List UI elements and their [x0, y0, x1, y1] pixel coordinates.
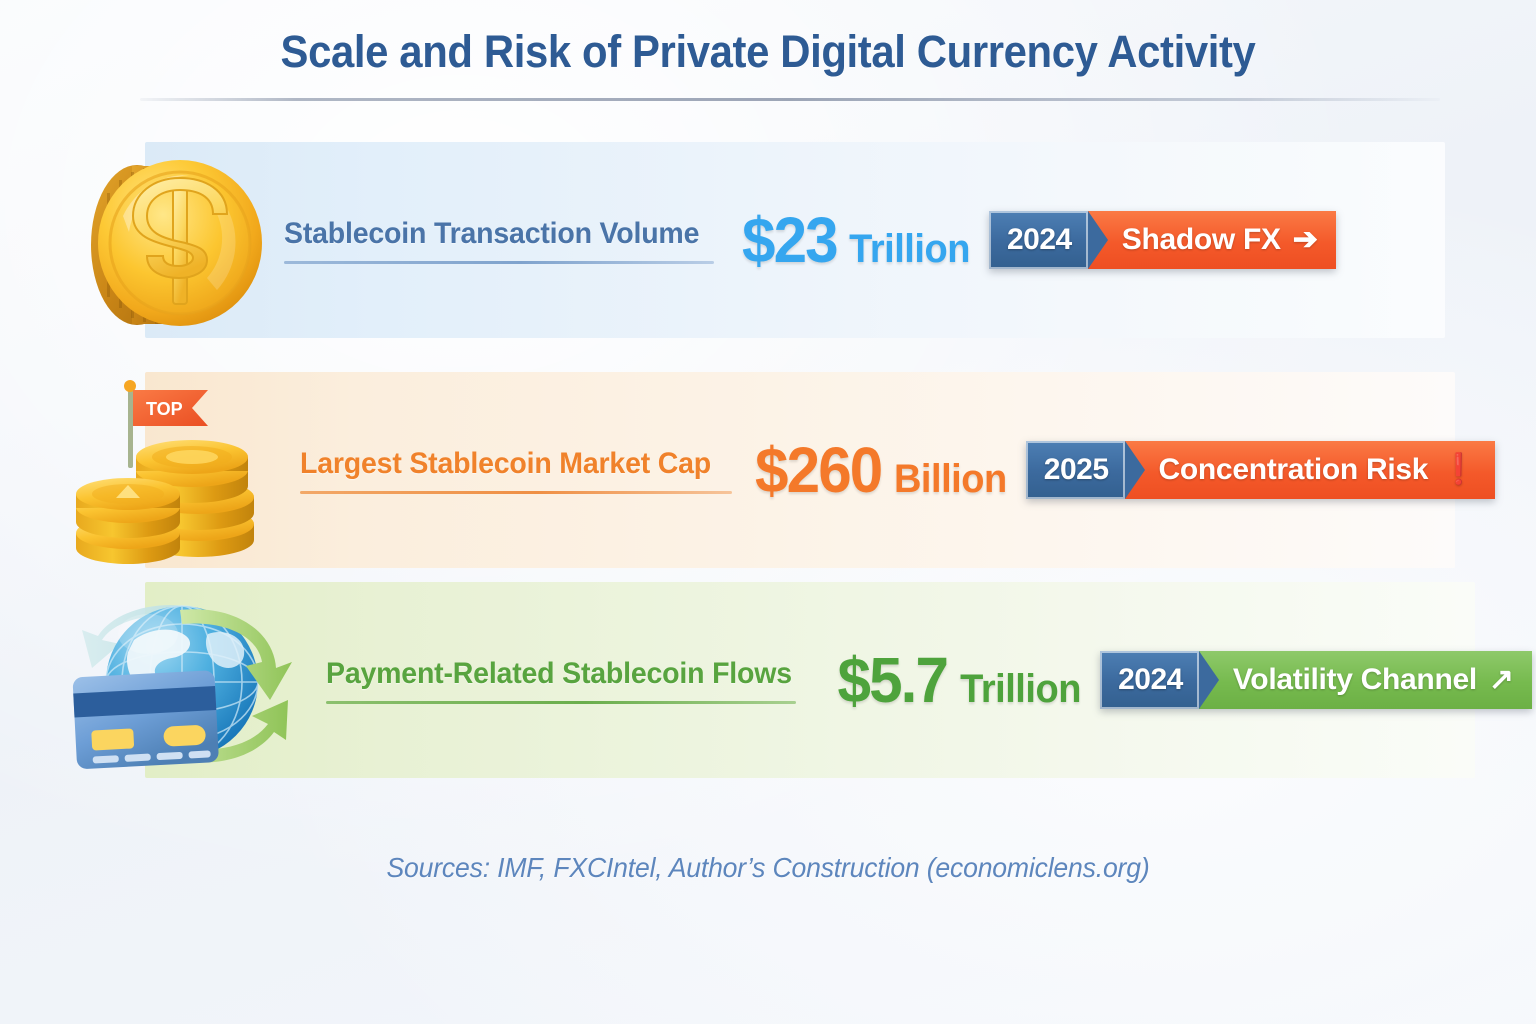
metric-label-underline	[300, 491, 732, 494]
metric-label-block: Stablecoin Transaction Volume	[284, 217, 721, 264]
title-divider	[140, 98, 1440, 101]
infographic-canvas: Scale and Risk of Private Digital Curren…	[0, 0, 1536, 1024]
metric-value-unit: Trillion	[960, 667, 1081, 712]
metric-value-number: $5.7	[838, 643, 948, 717]
risk-badge[interactable]: 2024 Shadow FX ➔	[989, 211, 1336, 269]
coin-stack-top-flag-icon: TOP	[70, 372, 300, 568]
metric-label: Payment-Related Stablecoin Flows	[326, 657, 792, 691]
badge-year: 2024	[989, 211, 1088, 269]
metric-value: $260 Billion	[751, 433, 1010, 507]
risk-badge[interactable]: 2024 Volatility Channel ↗	[1100, 651, 1532, 709]
gold-coin-dollar-icon	[72, 142, 272, 338]
svg-text:TOP: TOP	[146, 399, 183, 419]
up-right-arrow-icon: ↗	[1489, 665, 1514, 695]
metric-value-number: $23	[742, 203, 837, 277]
metric-value: $23 Trillion	[739, 203, 973, 277]
metric-label: Stablecoin Transaction Volume	[284, 217, 699, 251]
badge-label: Volatility Channel	[1233, 663, 1477, 697]
sources-note: Sources: IMF, FXCIntel, Author’s Constru…	[38, 852, 1497, 884]
globe-credit-card-icon	[62, 582, 312, 778]
row-content: Stablecoin Transaction Volume $23 Trilli…	[284, 142, 1336, 338]
badge-label: Shadow FX	[1122, 223, 1281, 257]
badge-year: 2024	[1100, 651, 1199, 709]
page-title: Scale and Risk of Private Digital Curren…	[54, 26, 1482, 78]
badge-label: Concentration Risk	[1159, 453, 1429, 487]
metric-label-underline	[284, 261, 714, 264]
metric-label-block: Largest Stablecoin Market Cap	[300, 447, 733, 494]
metric-row: Payment-Related Stablecoin Flows $5.7 Tr…	[0, 582, 1536, 778]
metric-row: Stablecoin Transaction Volume $23 Trilli…	[0, 142, 1536, 338]
badge-body: Concentration Risk ❗	[1125, 441, 1496, 499]
exclamation-icon: ❗	[1440, 455, 1477, 485]
metric-value-unit: Trillion	[849, 227, 970, 272]
metric-label-block: Payment-Related Stablecoin Flows	[326, 657, 816, 704]
right-arrow-icon: ➔	[1293, 225, 1318, 255]
metric-label: Largest Stablecoin Market Cap	[300, 447, 711, 481]
row-content: Payment-Related Stablecoin Flows $5.7 Tr…	[326, 582, 1532, 778]
risk-badge[interactable]: 2025 Concentration Risk ❗	[1026, 441, 1495, 499]
metric-value: $5.7 Trillion	[834, 643, 1084, 717]
metric-label-underline	[326, 701, 796, 704]
badge-body: Shadow FX ➔	[1088, 211, 1336, 269]
badge-year: 2025	[1026, 441, 1125, 499]
metric-row: TOP	[0, 372, 1536, 568]
row-content: Largest Stablecoin Market Cap $260 Billi…	[300, 372, 1495, 568]
metric-value-unit: Billion	[894, 457, 1007, 502]
badge-body: Volatility Channel ↗	[1199, 651, 1532, 709]
metric-value-number: $260	[755, 433, 881, 507]
